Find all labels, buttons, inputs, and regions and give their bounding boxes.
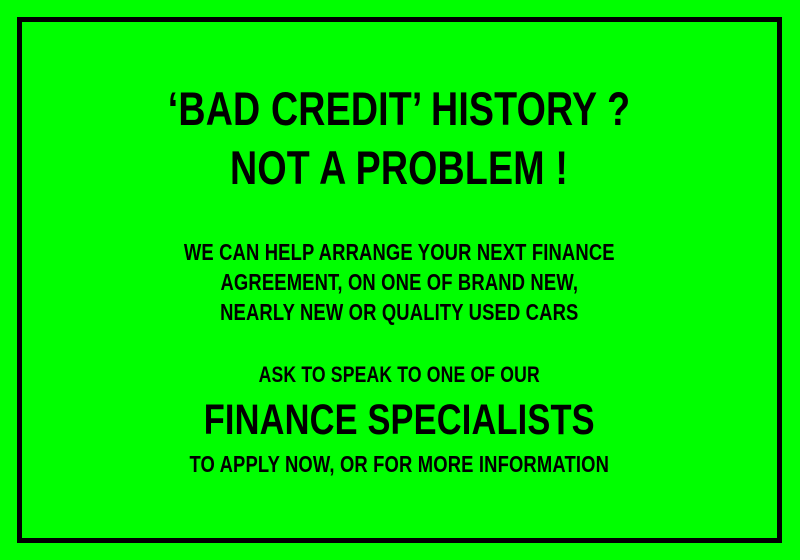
body-line-2: AGREEMENT, ON ONE OF BRAND NEW, (184, 267, 615, 297)
cta-headline-text: FINANCE SPECIALISTS (190, 392, 610, 448)
call-to-action-block: ASK TO SPEAK TO ONE OF OUR FINANCE SPECI… (137, 360, 662, 479)
body-paragraph: WE CAN HELP ARRANGE YOUR NEXT FINANCE AG… (130, 237, 669, 327)
cta-footer-text: TO APPLY NOW, OR FOR MORE INFORMATION (190, 449, 610, 479)
headline-line-1: ‘BAD CREDIT’ HISTORY ? (168, 79, 630, 138)
headline-line-2: NOT A PROBLEM ! (168, 138, 630, 197)
poster-content: ‘BAD CREDIT’ HISTORY ? NOT A PROBLEM ! W… (22, 22, 777, 538)
cta-intro-text: ASK TO SPEAK TO ONE OF OUR (190, 360, 610, 390)
body-line-1: WE CAN HELP ARRANGE YOUR NEXT FINANCE (184, 237, 615, 267)
headline-block: ‘BAD CREDIT’ HISTORY ? NOT A PROBLEM ! (110, 79, 688, 197)
advertisement-poster: ‘BAD CREDIT’ HISTORY ? NOT A PROBLEM ! W… (0, 0, 800, 560)
body-line-3: NEARLY NEW OR QUALITY USED CARS (184, 297, 615, 327)
